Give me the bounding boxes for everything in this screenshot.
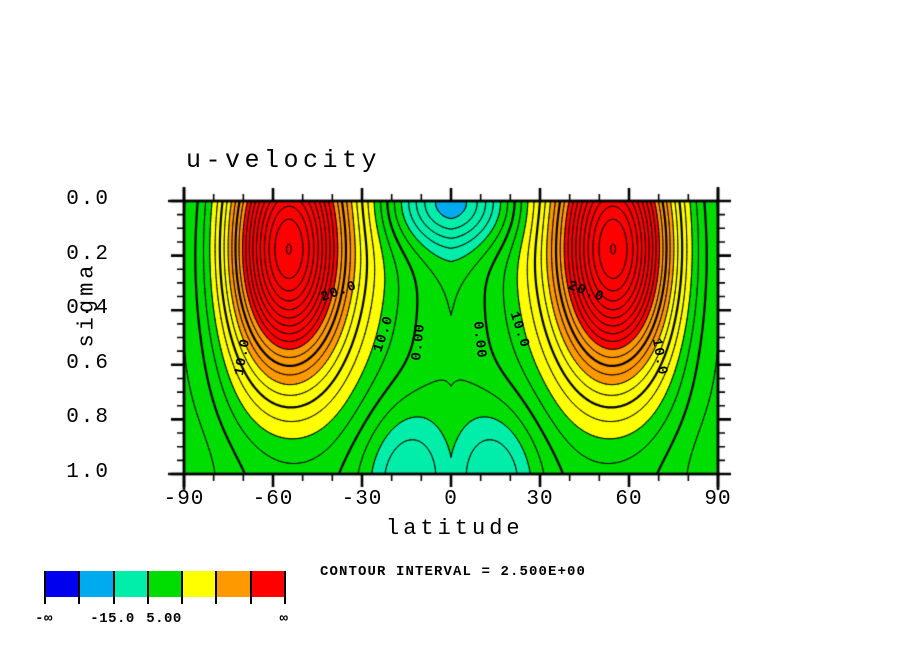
colorbar-swatch xyxy=(44,571,78,597)
x-tick-label: -90 xyxy=(144,488,224,511)
axis-frame xyxy=(0,0,904,654)
colorbar-tick xyxy=(113,571,115,604)
colorbar-tick xyxy=(181,571,183,604)
colorbar-tick xyxy=(78,571,80,604)
colorbar-tick xyxy=(250,571,252,604)
colorbar-swatch xyxy=(78,571,112,597)
y-tick-label: 0.0 xyxy=(20,188,110,211)
y-tick-label: 0.2 xyxy=(20,243,110,266)
colorbar-label: ∞ xyxy=(249,611,319,627)
colorbar-swatch xyxy=(250,571,284,597)
x-tick-label: 0 xyxy=(411,488,491,511)
figure-canvas-root: 10.020.010.00.000.0010.020.010.0 u-veloc… xyxy=(0,0,904,654)
page-title: u-velocity xyxy=(186,146,381,175)
contour-interval-caption: CONTOUR INTERVAL = 2.500E+00 xyxy=(320,564,586,580)
colorbar-swatch xyxy=(147,571,181,597)
colorbar-tick xyxy=(284,571,286,604)
x-tick-label: 90 xyxy=(678,488,758,511)
colorbar-tick xyxy=(215,571,217,604)
colorbar-tick xyxy=(44,571,46,604)
colorbar-label: 5.00 xyxy=(129,611,199,627)
x-tick-label: -30 xyxy=(322,488,402,511)
x-tick-label: 60 xyxy=(589,488,669,511)
y-tick-label: 0.6 xyxy=(20,352,110,375)
colorbar-swatch xyxy=(113,571,147,597)
y-tick-label: 0.4 xyxy=(20,297,110,320)
colorbar-swatch xyxy=(215,571,249,597)
y-tick-label: 0.8 xyxy=(20,406,110,429)
x-axis-title: latitude xyxy=(386,516,524,541)
y-tick-label: 1.0 xyxy=(20,461,110,484)
colorbar-label: -∞ xyxy=(9,611,79,627)
x-tick-label: -60 xyxy=(233,488,313,511)
colorbar-tick xyxy=(147,571,149,604)
x-tick-label: 30 xyxy=(500,488,580,511)
colorbar-swatch xyxy=(181,571,215,597)
